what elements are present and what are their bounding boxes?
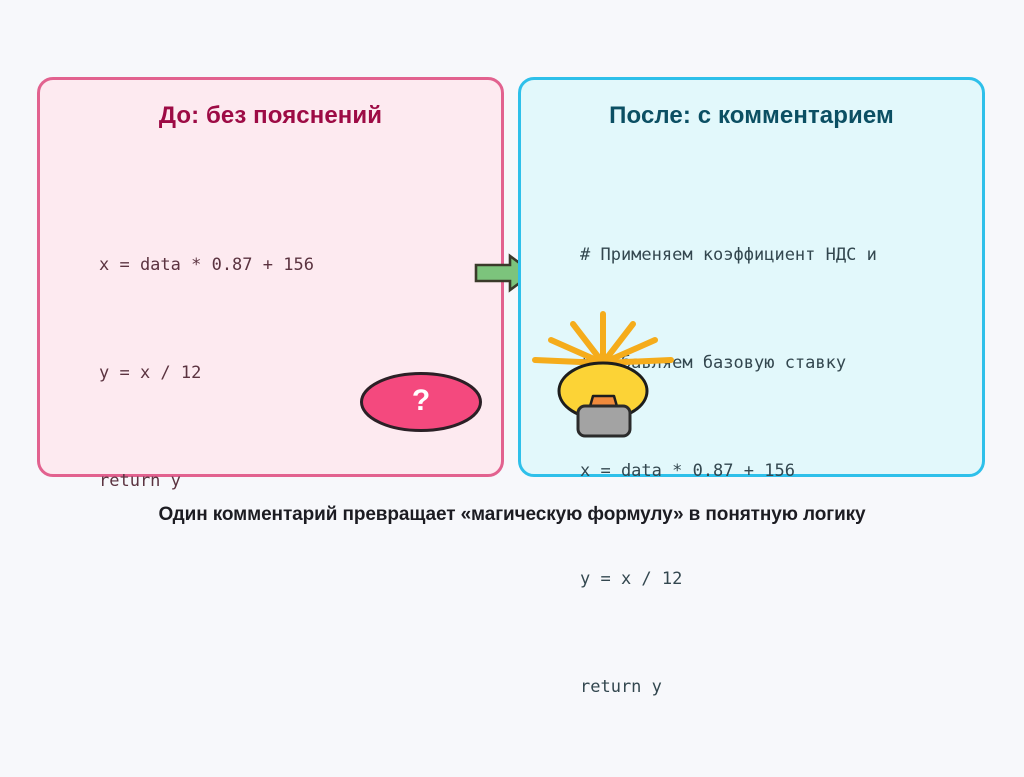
lightbulb-illustration bbox=[521, 308, 691, 438]
lightbulb-base bbox=[578, 406, 630, 436]
panel-before-title: До: без пояснений bbox=[40, 102, 501, 130]
panel-after-title: После: с комментарием bbox=[521, 102, 982, 130]
slide-canvas: До: без пояснений x = data * 0.87 + 156 … bbox=[0, 0, 1024, 581]
lightbulb-icon bbox=[521, 308, 691, 438]
question-bubble: ? bbox=[359, 371, 483, 433]
panel-after-code: # Применяем коэффициент НДС и # добавляе… bbox=[580, 165, 877, 777]
question-mark-label: ? bbox=[359, 371, 483, 433]
code-line: y = x / 12 bbox=[99, 355, 314, 391]
code-line: return y bbox=[580, 669, 877, 705]
code-line: return y bbox=[99, 463, 314, 499]
code-line: x = data * 0.87 + 156 bbox=[580, 453, 877, 489]
code-line: y = x / 12 bbox=[580, 561, 877, 597]
slide-caption: Один комментарий превращает «магическую … bbox=[0, 504, 1024, 526]
code-line: x = data * 0.87 + 156 bbox=[99, 247, 314, 283]
code-line: # Применяем коэффициент НДС и bbox=[580, 237, 877, 273]
lightbulb-rays bbox=[535, 314, 671, 363]
